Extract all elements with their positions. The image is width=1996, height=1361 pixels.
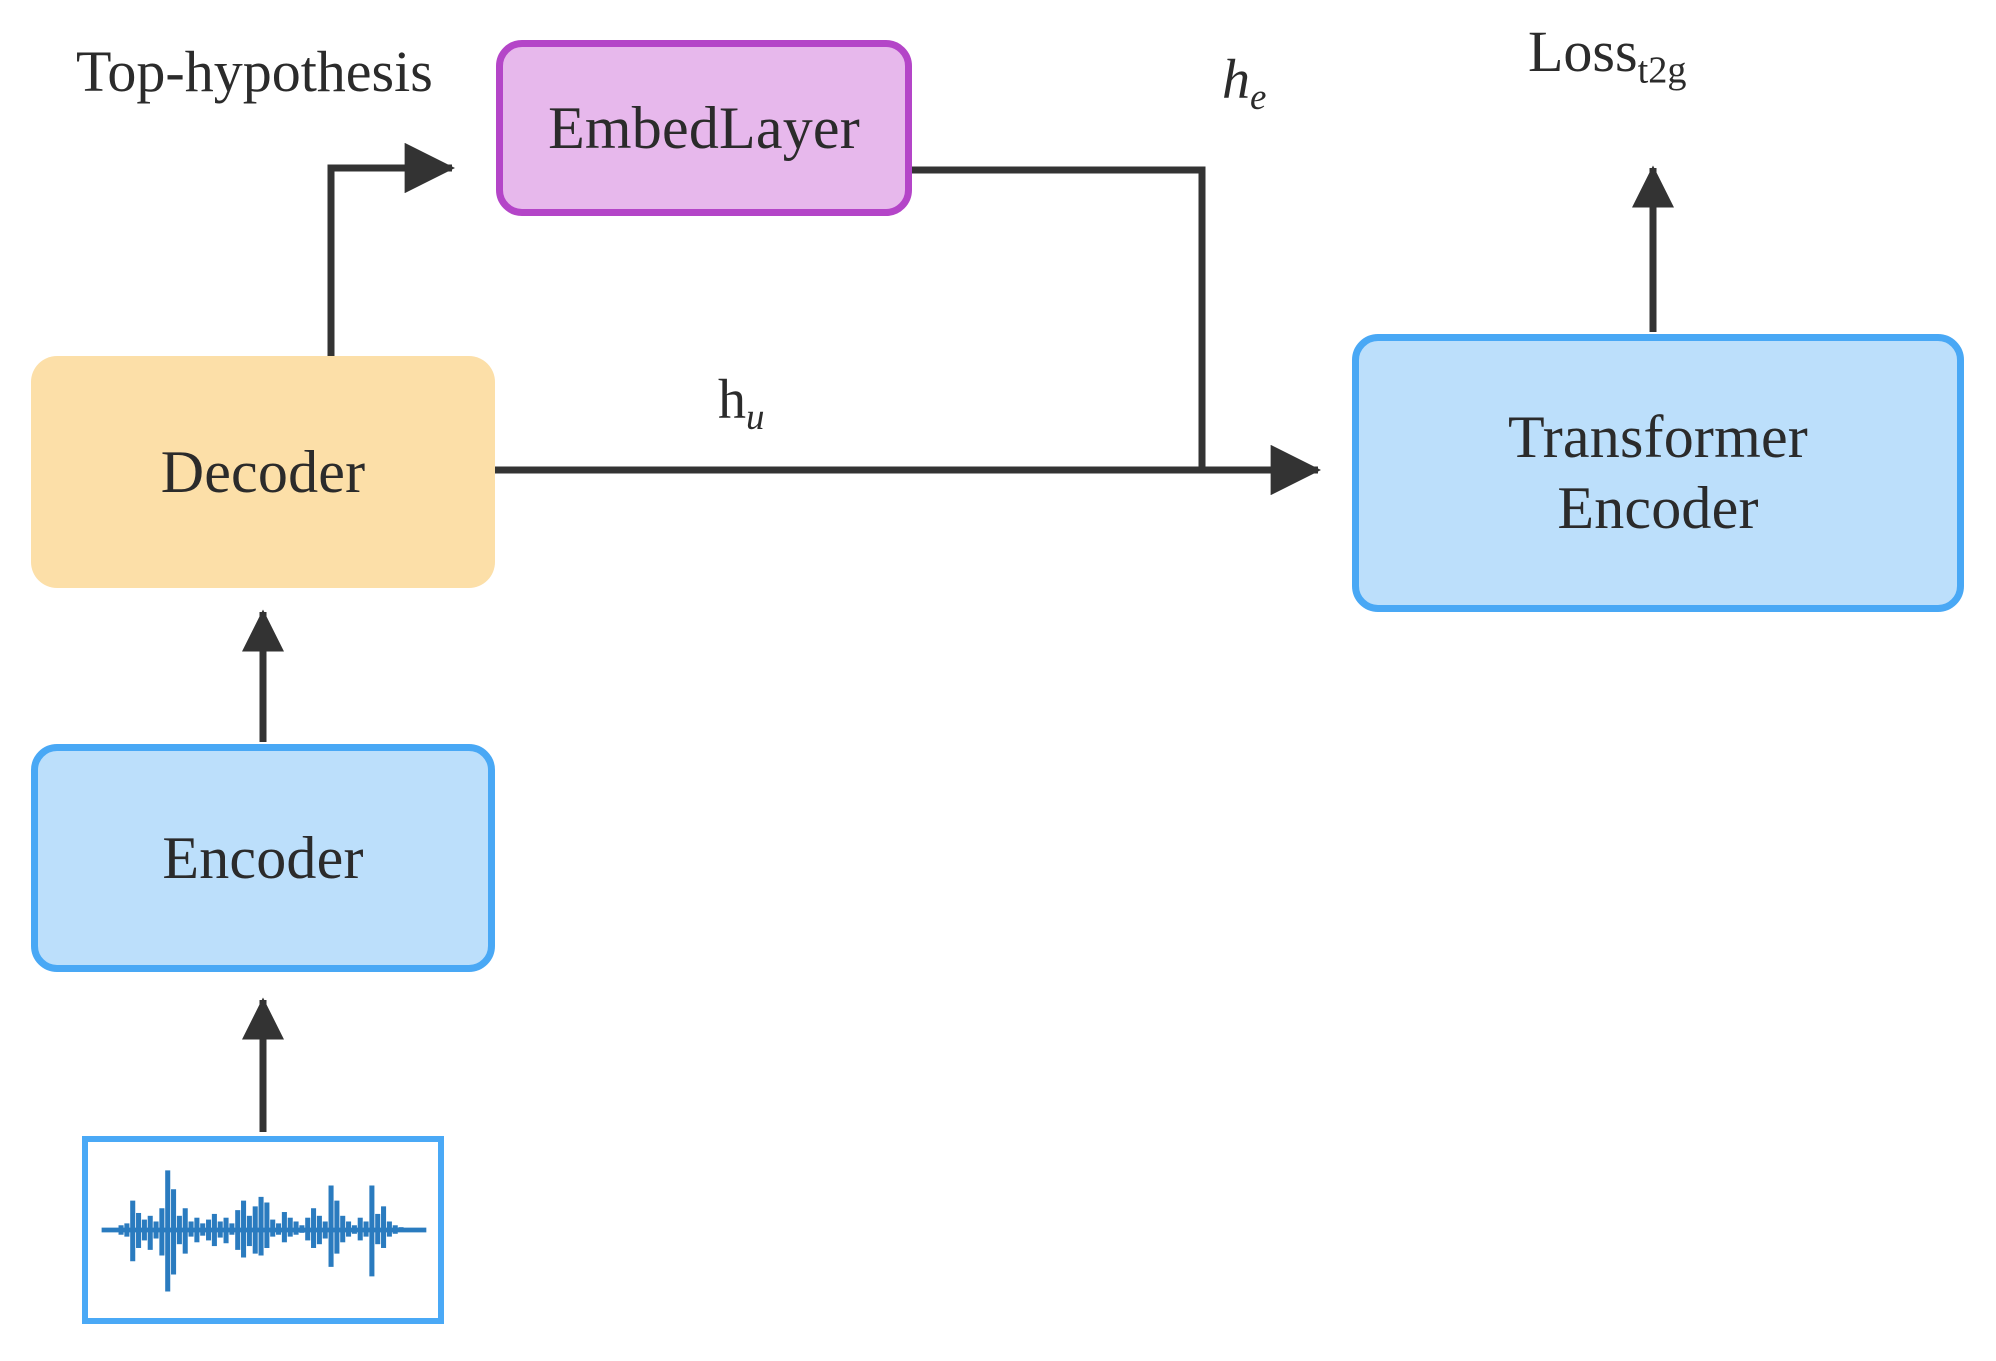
label-loss-t2g: Losst2g (1528, 18, 1686, 92)
node-encoder-label: Encoder (162, 823, 363, 894)
node-embedlayer[interactable]: EmbedLayer (496, 40, 912, 216)
label-h-u-base: h (718, 369, 746, 431)
node-embedlayer-label: EmbedLayer (548, 93, 860, 164)
diagram-canvas: EmbedLayer Decoder Encoder Transformer E… (0, 0, 1996, 1361)
label-loss-base: Loss (1528, 19, 1638, 84)
label-h-u-subscript: u (746, 396, 764, 437)
edge-decoder-to-embedlayer (331, 168, 452, 358)
edge-embedlayer-to-transformer (910, 170, 1202, 470)
audio-waveform-icon (88, 1142, 438, 1318)
label-h-e: he (1222, 48, 1266, 118)
label-loss-subscript: t2g (1638, 49, 1687, 91)
label-h-u: hu (718, 368, 764, 438)
node-audio-input[interactable] (82, 1136, 444, 1324)
node-decoder[interactable]: Decoder (31, 356, 495, 588)
node-encoder[interactable]: Encoder (31, 744, 495, 972)
label-top-hypothesis: Top-hypothesis (76, 38, 433, 105)
label-h-e-subscript: e (1250, 76, 1266, 117)
node-transformer-encoder[interactable]: Transformer Encoder (1352, 334, 1964, 612)
node-decoder-label: Decoder (161, 437, 366, 508)
label-h-e-base: h (1222, 49, 1250, 111)
node-transformer-encoder-label: Transformer Encoder (1508, 402, 1808, 544)
